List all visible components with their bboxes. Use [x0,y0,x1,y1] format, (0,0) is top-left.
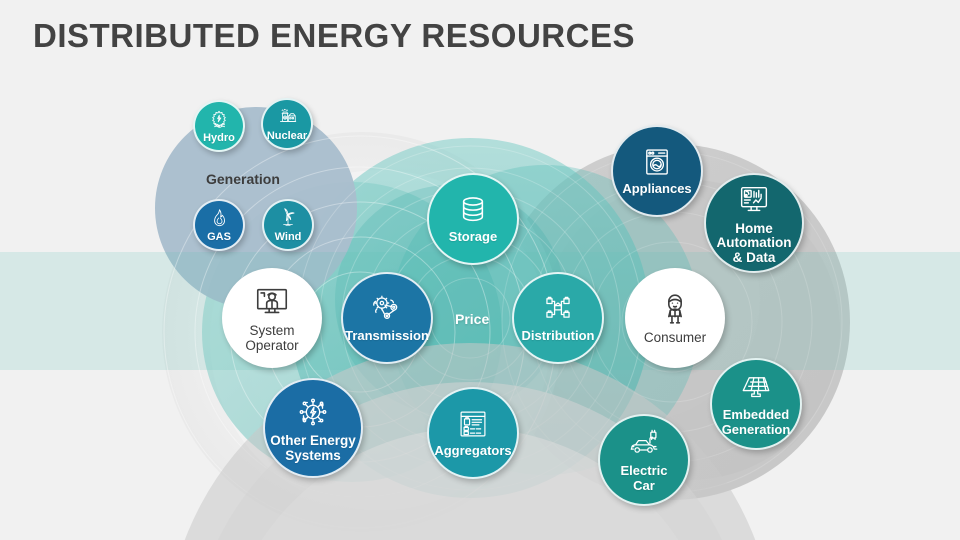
node-label-hydro: Hydro [203,133,235,145]
gas-flame-icon [208,207,230,229]
slide-canvas: DISTRIBUTED ENERGY RESOURCES Generation … [0,0,960,540]
node-label-appliances: Appliances [622,182,691,196]
node-transmission[interactable]: Transmission [341,272,433,364]
node-label-consumer: Consumer [644,331,706,346]
node-embedded-gen[interactable]: EmbeddedGeneration [710,358,802,450]
node-home-automation[interactable]: HomeAutomation& Data [704,173,804,273]
node-wind[interactable]: Wind [262,199,314,251]
nuclear-plant-icon [276,106,298,128]
node-nuclear[interactable]: Nuclear [261,98,313,150]
node-electric-car[interactable]: ElectricCar [598,414,690,506]
transmission-gears-icon [370,292,404,326]
consumer-person-icon [656,290,694,328]
aggregator-document-icon [456,407,490,441]
node-consumer[interactable]: Consumer [625,268,725,368]
node-label-gas: GAS [207,232,231,244]
price-group-label: Price [455,311,489,327]
node-other-energy[interactable]: Other EnergySystems [263,378,363,478]
monitor-chart-icon [735,181,773,219]
node-hydro[interactable]: Hydro [193,100,245,152]
wind-turbine-icon [277,207,299,229]
hydro-sun-water-icon [208,108,230,130]
node-appliances[interactable]: Appliances [611,125,703,217]
node-label-nuclear: Nuclear [267,131,307,143]
electric-car-icon [627,427,661,461]
node-label-embedded-gen: EmbeddedGeneration [722,408,791,436]
node-label-electric-car: ElectricCar [621,464,668,492]
node-system-operator[interactable]: SystemOperator [222,268,322,368]
node-label-transmission: Transmission [345,329,429,343]
node-aggregators[interactable]: Aggregators [427,387,519,479]
node-label-aggregators: Aggregators [434,444,511,458]
generation-group-label: Generation [206,171,280,187]
node-label-other-energy: Other EnergySystems [270,434,356,463]
node-gas[interactable]: GAS [193,199,245,251]
node-label-storage: Storage [449,230,497,244]
circuit-bolt-icon [294,393,332,431]
node-label-home-automation: HomeAutomation& Data [717,222,792,266]
page-title: DISTRIBUTED ENERGY RESOURCES [33,17,635,55]
node-distribution[interactable]: Distribution [512,272,604,364]
node-label-distribution: Distribution [522,329,595,343]
washing-machine-icon [640,145,674,179]
node-storage[interactable]: Storage [427,173,519,265]
node-label-wind: Wind [275,232,302,244]
distribution-network-icon [541,292,575,326]
node-label-system-operator: SystemOperator [245,324,298,353]
solar-panel-icon [739,371,773,405]
database-cylinder-icon [456,193,490,227]
operator-screen-icon [253,283,291,321]
